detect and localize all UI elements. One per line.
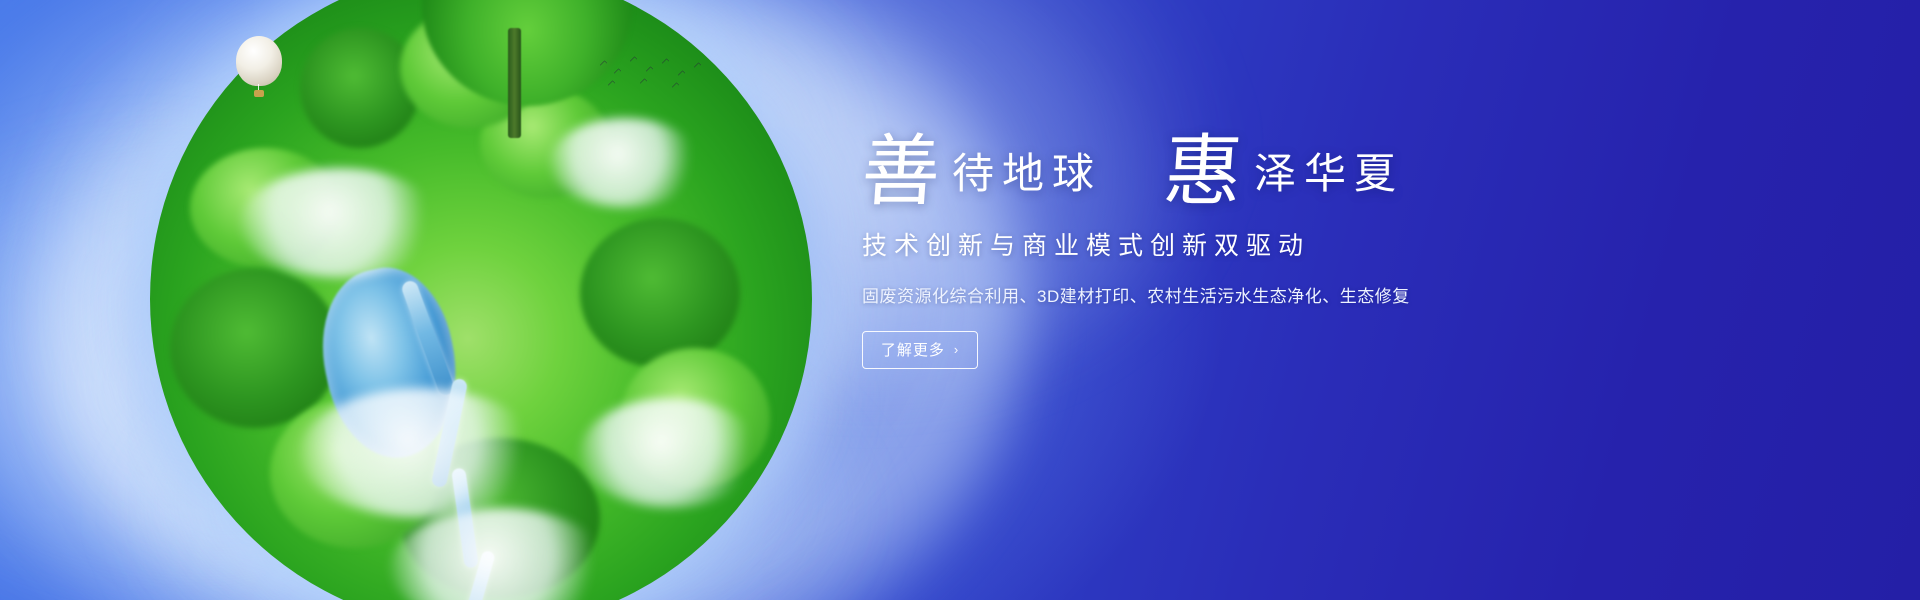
headline-text-daidiqiu: 待地球: [952, 154, 1102, 204]
headline: 善 待地球 惠 泽华夏: [862, 132, 1862, 204]
foliage-blob: [170, 268, 340, 428]
learn-more-label: 了解更多: [881, 339, 945, 360]
cloud-puff: [580, 398, 760, 508]
large-tree-trunk: [508, 28, 521, 138]
cloud-puff: [550, 118, 700, 208]
hot-air-balloon-icon: [236, 36, 282, 98]
banner-copy: 善 待地球 惠 泽华夏 技术创新与商业模式创新双驱动 固废资源化综合利用、3D建…: [862, 132, 1862, 369]
banner-description: 固废资源化综合利用、3D建材打印、农村生活污水生态净化、生态修复: [862, 282, 1862, 307]
cloud-puff: [240, 168, 440, 278]
chevron-right-icon: ›: [954, 342, 959, 357]
cloud-puff: [300, 388, 540, 518]
headline-char-shan: 善: [859, 136, 942, 208]
hero-banner: 善 待地球 惠 泽华夏 技术创新与商业模式创新双驱动 固废资源化综合利用、3D建…: [0, 0, 1920, 600]
learn-more-button[interactable]: 了解更多 ›: [862, 331, 978, 369]
headline-char-hui: 惠: [1162, 136, 1245, 208]
banner-subheadline: 技术创新与商业模式创新双驱动: [862, 226, 1862, 262]
headline-text-zehuaxia: 泽华夏: [1254, 154, 1404, 204]
foliage-blob: [300, 28, 420, 148]
